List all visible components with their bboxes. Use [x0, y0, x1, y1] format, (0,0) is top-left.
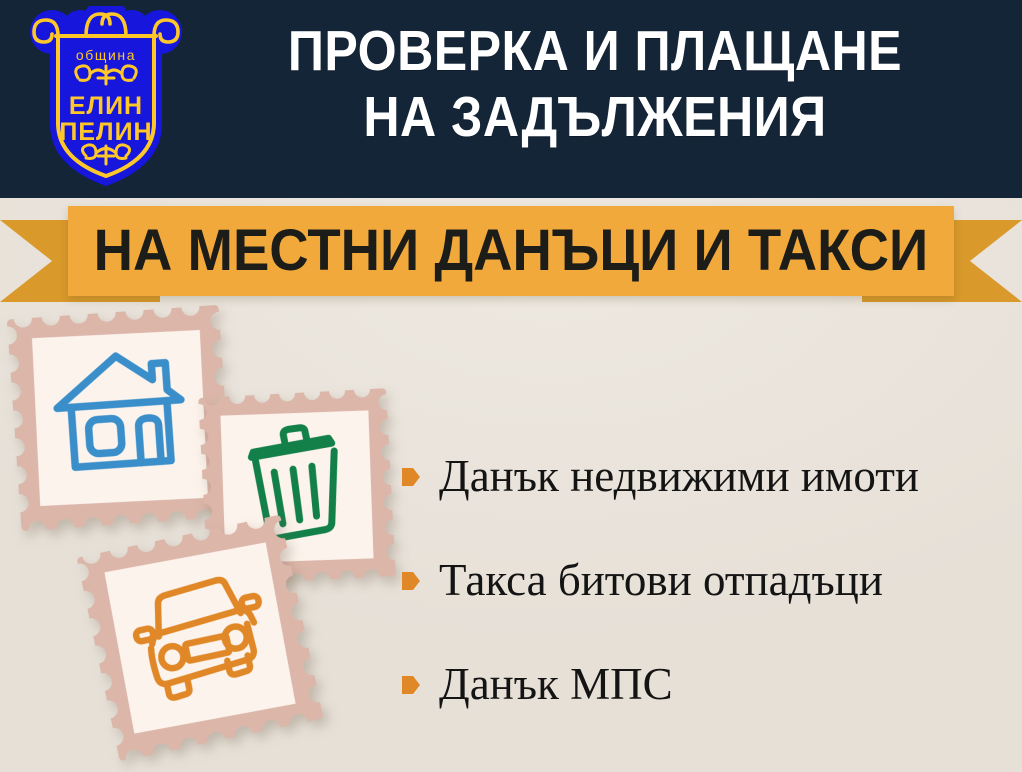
page-title-line-1: ПРОВЕРКА И ПЛАЩАНЕ [239, 18, 952, 84]
tax-type-list: Данък недвижими имоти Такса битови отпад… [401, 424, 1013, 736]
header-bar: община ЕЛИН ПЕЛИН [0, 0, 1022, 198]
page-title: ПРОВЕРКА И ПЛАЩАНЕ НА ЗАДЪЛЖЕНИЯ [190, 18, 1000, 150]
poster-canvas: община ЕЛИН ПЕЛИН [0, 0, 1022, 772]
list-item[interactable]: Такса битови отпадъци [401, 528, 1013, 632]
stamp-vehicle-tax [77, 515, 324, 762]
arrow-bullet-icon [401, 569, 421, 593]
ribbon-main-panel: НА МЕСТНИ ДАНЪЦИ И ТАКСИ [68, 206, 954, 296]
arrow-bullet-icon [401, 465, 421, 489]
list-item-label: Такса битови отпадъци [439, 555, 883, 605]
logo-name-line2: ПЕЛИН [59, 118, 152, 146]
ribbon-banner: НА МЕСТНИ ДАНЪЦИ И ТАКСИ [0, 198, 1022, 310]
page-title-line-2: НА ЗАДЪЛЖЕНИЯ [239, 84, 952, 150]
list-item[interactable]: Данък недвижими имоти [401, 424, 1013, 528]
municipality-logo: община ЕЛИН ПЕЛИН [28, 6, 184, 192]
logo-obshtina-text: община [76, 47, 136, 63]
list-item-label: Данък недвижими имоти [439, 451, 919, 501]
ribbon-label: НА МЕСТНИ ДАНЪЦИ И ТАКСИ [94, 221, 929, 281]
arrow-bullet-icon [401, 673, 421, 697]
list-item-label: Данък МПС [439, 659, 673, 709]
list-item[interactable]: Данък МПС [401, 632, 1013, 736]
logo-name-line1: ЕЛИН [69, 92, 143, 120]
